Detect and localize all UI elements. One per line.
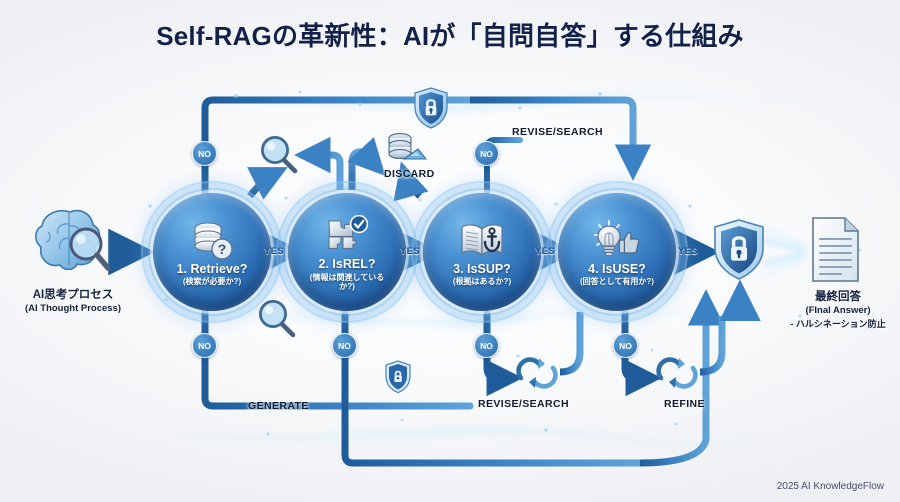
node-subtitle: (根拠はあるか?) [453, 277, 511, 286]
discard-label: DISCARD [384, 168, 435, 180]
node-isrel[interactable]: 2. IsREL? (情報は関連しているか?) [288, 193, 406, 311]
shield-lock-icon [412, 86, 450, 135]
svg-text:?: ? [218, 241, 227, 257]
yes-label-1: YES [264, 246, 284, 257]
node-issup[interactable]: 3. IsSUP? (根拠はあるか?) [423, 193, 541, 311]
diagram-canvas: Self-RAGの革新性：AIが「自問自答」する仕組み [0, 0, 900, 502]
yes-label-4: YES [678, 246, 698, 257]
no-badge-isrel-bottom: NO [332, 333, 357, 358]
node-subtitle: (情報は関連しているか?) [304, 273, 390, 291]
no-badge-retrieve-top: NO [192, 141, 217, 166]
final-answer-caption: 最終回答 (FInal Answer) - ハルシネーション防止 [780, 288, 896, 330]
database-discard-icon [384, 132, 428, 173]
revise-search-top-label: REVISE/SEARCH [512, 126, 603, 138]
brain-magnifier-icon [30, 206, 116, 281]
revise-search-bottom-label: REVISE/SEARCH [478, 398, 569, 410]
start-caption: AI思考プロセス (AI Thought Process) [6, 286, 140, 314]
final-label-jp: 最終回答 [780, 288, 896, 304]
node-subtitle: (回答として有用か?) [580, 277, 654, 286]
database-question-icon: ? [187, 218, 237, 262]
node-title: 4. IsUSE? [588, 263, 646, 277]
node-subtitle: (検索が必要か?) [183, 277, 241, 286]
magnifier-icon [256, 298, 298, 345]
node-retrieve[interactable]: ? 1. Retrieve? (検索が必要か?) [153, 193, 271, 311]
document-icon [808, 216, 862, 289]
node-isuse[interactable]: 4. IsUSE? (回答として有用か?) [558, 193, 676, 311]
no-badge-issup-top: NO [474, 141, 499, 166]
puzzle-check-icon [322, 213, 372, 257]
footer-credit: 2025 AI KnowledgeFlow [777, 481, 884, 492]
yes-label-2: YES [400, 246, 420, 257]
final-beam [760, 226, 806, 278]
final-label-note: - ハルシネーション防止 [780, 317, 896, 330]
no-badge-issup-bottom: NO [474, 333, 499, 358]
lightbulb-thumbsup-icon [592, 218, 642, 262]
refresh-cycle-icon [652, 356, 702, 395]
no-badge-retrieve-bottom: NO [192, 333, 217, 358]
node-title: 3. IsSUP? [453, 263, 511, 277]
refine-label: REFINE [664, 398, 705, 410]
page-title: Self-RAGの革新性：AIが「自問自答」する仕組み [0, 16, 900, 53]
node-title: 2. IsREL? [319, 258, 376, 272]
shield-lock-small-icon [384, 360, 412, 399]
book-anchor-icon [457, 218, 507, 262]
start-label-jp: AI思考プロセス [6, 286, 140, 302]
shield-lock-icon [712, 218, 766, 287]
start-label-en: (AI Thought Process) [6, 303, 140, 314]
no-badge-isuse-bottom: NO [613, 333, 638, 358]
refresh-cycle-icon [512, 356, 562, 395]
magnifier-icon [258, 134, 300, 181]
generate-label: GENERATE [248, 400, 309, 412]
yes-label-3: YES [535, 246, 555, 257]
node-title: 1. Retrieve? [177, 263, 248, 277]
final-label-en: (FInal Answer) [780, 305, 896, 316]
